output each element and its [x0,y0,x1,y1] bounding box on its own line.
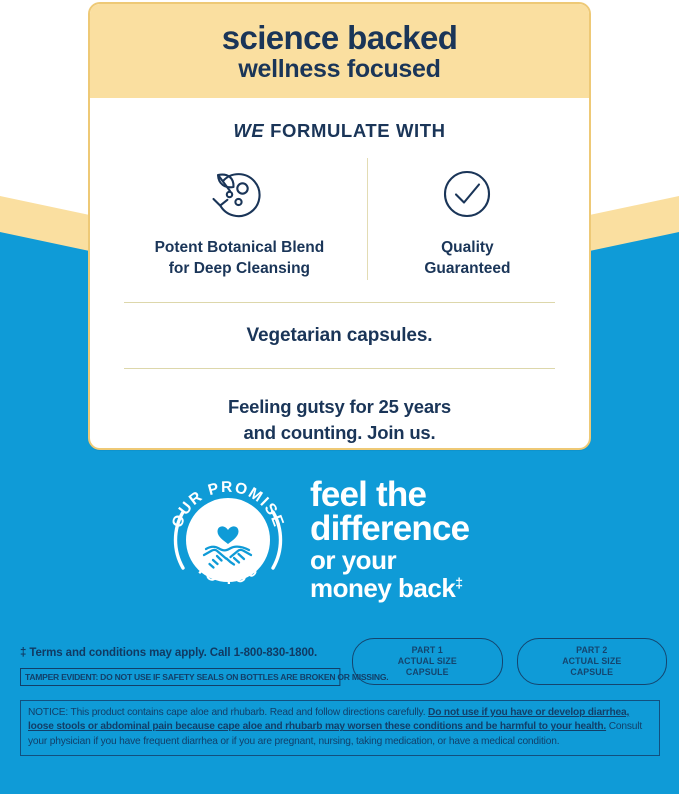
capsule-part-1-line-2: ACTUAL SIZE [398,656,457,666]
money-back-text: money back [310,573,455,603]
money-back-dagger: ‡ [455,574,462,590]
feature-botanical-line-1: Potent Botanical Blend [155,239,325,256]
capsule-part-2-line-3: CAPSULE [570,667,613,677]
feel-line-3: or your [310,546,469,574]
feature-botanical-label: Potent Botanical Blend for Deep Cleansin… [155,238,325,280]
vegetarian-capsules-text: Vegetarian capsules. [112,303,567,368]
notice-intro: NOTICE: This product contains cape aloe … [28,707,428,718]
feel-line-1: feel the [310,478,469,512]
formulate-heading: WE FORMULATE WITH [112,120,567,142]
feature-botanical-line-2: for Deep Cleansing [169,260,310,277]
headline-line-1: science backed [222,21,458,55]
promise-block: OUR PROMISE TO YOU feel the diff [160,470,580,610]
hero-card: science backed wellness focused WE FORMU… [88,2,591,450]
feel-the-difference-text: feel the difference or your money back‡ [310,478,469,602]
capsule-part-1-line-1: PART 1 [412,645,443,655]
gutsy-line-1: Feeling gutsy for 25 years [228,396,451,417]
botanical-cycle-icon [206,158,272,230]
feel-line-2: difference [310,512,469,546]
formulate-emphasis: WE [233,120,264,141]
capsule-part-2-line-2: ACTUAL SIZE [562,656,621,666]
feel-line-4: money back‡ [310,574,469,602]
feature-quality-label: Quality Guaranteed [424,238,510,280]
hero-headline-band: science backed wellness focused [90,4,589,98]
capsule-part-1-line-3: CAPSULE [406,667,449,677]
package-panel: science backed wellness focused WE FORMU… [0,0,679,794]
formulate-rest: FORMULATE WITH [270,120,446,141]
gutsy-line-2: and counting. Join us. [244,422,436,443]
capsule-part-2-line-1: PART 2 [576,645,607,655]
feature-columns: Potent Botanical Blend for Deep Cleansin… [112,158,567,280]
gutsy-tagline: Feeling gutsy for 25 years and counting.… [112,369,567,446]
check-circle-icon [437,158,497,230]
our-promise-seal: OUR PROMISE TO YOU [160,472,296,608]
feature-quality: Quality Guaranteed [367,158,567,280]
feature-botanical: Potent Botanical Blend for Deep Cleansin… [112,158,367,280]
actual-size-capsules: PART 1 ACTUAL SIZE CAPSULE PART 2 ACTUAL… [352,638,667,685]
feature-quality-line-2: Guaranteed [424,260,510,277]
capsule-part-2: PART 2 ACTUAL SIZE CAPSULE [517,638,668,685]
feature-quality-line-1: Quality [441,239,494,256]
hero-card-body: WE FORMULATE WITH [90,120,589,446]
notice-warning-box: NOTICE: This product contains cape aloe … [20,700,660,756]
terms-and-conditions: ‡ Terms and conditions may apply. Call 1… [20,647,317,659]
tamper-evident-notice: TAMPER EVIDENT: DO NOT USE IF SAFETY SEA… [20,668,340,686]
headline-line-2: wellness focused [238,54,440,85]
capsule-part-1: PART 1 ACTUAL SIZE CAPSULE [352,638,503,685]
